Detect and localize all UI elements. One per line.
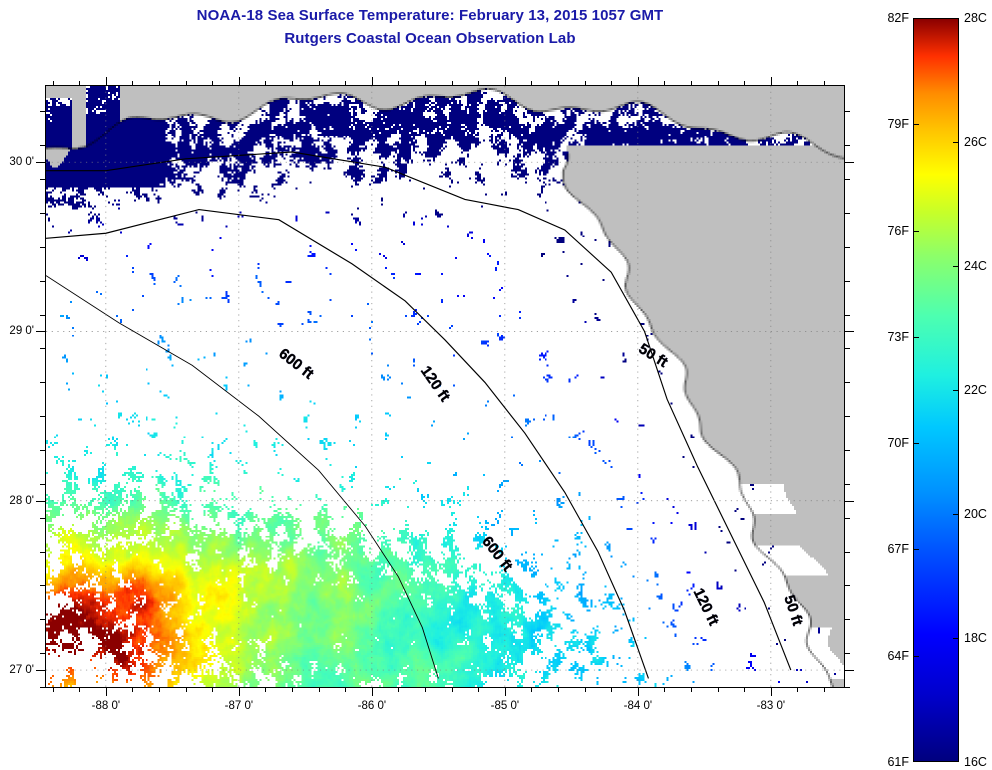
y-minor-tick: [40, 111, 46, 112]
y-minor-tick-right: [844, 687, 850, 688]
y-minor-tick: [40, 281, 46, 282]
y-minor-tick: [40, 416, 46, 417]
y-minor-tick-right: [844, 111, 850, 112]
x-minor-tick: [212, 687, 213, 692]
y-minor-tick-right: [844, 281, 850, 282]
y-minor-tick-right: [844, 619, 850, 620]
colorbar-fahrenheit-label: 73F: [871, 330, 909, 344]
y-minor-tick-right: [844, 484, 850, 485]
x-minor-tick: [345, 687, 346, 692]
y-major-tick: [36, 501, 46, 502]
colorbar-fahrenheit-tick: [913, 443, 919, 444]
colorbar-celsius-tick: [953, 266, 959, 267]
x-minor-tick: [159, 687, 160, 692]
y-minor-tick: [40, 213, 46, 214]
contour-label-120ft: 120 ft: [417, 363, 453, 405]
x-minor-tick-top: [531, 81, 532, 86]
contour-label-50ft: 50 ft: [636, 340, 671, 371]
map-overlay: 600 ft120 ft50 ft600 ft120 ft50 ft: [46, 86, 844, 687]
y-major-tick: [36, 670, 46, 671]
x-major-tick-top: [505, 77, 506, 86]
y-minor-tick: [40, 484, 46, 485]
map-plot-area[interactable]: 600 ft120 ft50 ft600 ft120 ft50 ft: [45, 85, 845, 688]
y-major-tick-right: [844, 331, 854, 332]
colorbar-fahrenheit-label: 70F: [871, 436, 909, 450]
x-minor-tick: [691, 687, 692, 692]
lat-tick-label: 30 0': [2, 156, 34, 168]
page-subtitle: Rutgers Coastal Ocean Observation Lab: [0, 28, 860, 50]
title-block: NOAA-18 Sea Surface Temperature: Februar…: [0, 0, 860, 50]
colorbar-celsius-label: 20C: [964, 507, 987, 521]
lon-tick-label: -87 0': [225, 700, 253, 712]
x-minor-tick-top: [611, 81, 612, 86]
y-minor-tick: [40, 687, 46, 688]
y-minor-tick-right: [844, 585, 850, 586]
lon-tick-label: -88 0': [92, 700, 120, 712]
x-major-tick-top: [771, 77, 772, 86]
y-minor-tick: [40, 552, 46, 553]
x-minor-tick: [744, 687, 745, 692]
y-minor-tick-right: [844, 518, 850, 519]
y-minor-tick-right: [844, 315, 850, 316]
x-major-tick-top: [106, 77, 107, 86]
x-minor-tick: [398, 687, 399, 692]
y-major-tick: [36, 331, 46, 332]
y-major-tick: [36, 162, 46, 163]
y-minor-tick-right: [844, 179, 850, 180]
x-minor-tick-top: [452, 81, 453, 86]
colorbar-celsius-tick: [953, 638, 959, 639]
y-minor-tick: [40, 619, 46, 620]
colorbar-fahrenheit-tick: [913, 656, 919, 657]
y-minor-tick-right: [844, 552, 850, 553]
y-minor-tick-right: [844, 382, 850, 383]
x-minor-tick: [824, 687, 825, 692]
x-minor-tick: [132, 687, 133, 692]
colorbar-fahrenheit-tick: [913, 549, 919, 550]
y-minor-tick: [40, 382, 46, 383]
y-minor-tick-right: [844, 348, 850, 349]
x-minor-tick-top: [718, 81, 719, 86]
x-minor-tick-top: [425, 81, 426, 86]
depth-contour-600ft: [46, 276, 438, 679]
x-minor-tick-top: [345, 81, 346, 86]
x-minor-tick-top: [212, 81, 213, 86]
x-minor-tick: [478, 687, 479, 692]
x-minor-tick: [611, 687, 612, 692]
y-minor-tick: [40, 450, 46, 451]
colorbar-celsius-label: 22C: [964, 383, 987, 397]
lon-tick-label: -83 0': [757, 700, 785, 712]
colorbar-fahrenheit-tick: [913, 231, 919, 232]
x-minor-tick-top: [186, 81, 187, 86]
x-minor-tick: [186, 687, 187, 692]
x-minor-tick: [558, 687, 559, 692]
x-minor-tick-top: [265, 81, 266, 86]
contour-label-120ft: 120 ft: [690, 586, 722, 629]
contour-label-50ft: 50 ft: [780, 593, 806, 628]
y-minor-tick-right: [844, 145, 850, 146]
colorbar-fahrenheit-label: 76F: [871, 224, 909, 238]
lat-tick-label: 29 0': [2, 325, 34, 337]
y-minor-tick-right: [844, 653, 850, 654]
x-major-tick: [638, 687, 639, 696]
x-minor-tick-top: [797, 81, 798, 86]
colorbar-celsius-label: 16C: [964, 755, 987, 769]
page-title: NOAA-18 Sea Surface Temperature: Februar…: [0, 5, 860, 27]
x-minor-tick: [425, 687, 426, 692]
colorbar-fahrenheit-label: 82F: [871, 11, 909, 25]
x-minor-tick: [718, 687, 719, 692]
x-minor-tick-top: [691, 81, 692, 86]
x-minor-tick-top: [398, 81, 399, 86]
depth-contour-lines: [46, 152, 791, 678]
lon-tick-label: -85 0': [491, 700, 519, 712]
y-minor-tick-right: [844, 213, 850, 214]
y-minor-tick: [40, 145, 46, 146]
x-minor-tick: [531, 687, 532, 692]
x-major-tick-top: [638, 77, 639, 86]
y-major-tick-right: [844, 162, 854, 163]
x-minor-tick-top: [292, 81, 293, 86]
x-minor-tick: [265, 687, 266, 692]
x-minor-tick-top: [744, 81, 745, 86]
lon-tick-label: -84 0': [624, 700, 652, 712]
colorbar-celsius-label: 26C: [964, 135, 987, 149]
colorbar-fahrenheit-label: 64F: [871, 649, 909, 663]
x-minor-tick: [292, 687, 293, 692]
lon-tick-label: -86 0': [358, 700, 386, 712]
depth-contour-50ft: [46, 152, 791, 670]
y-minor-tick-right: [844, 450, 850, 451]
y-minor-tick-right: [844, 416, 850, 417]
x-minor-tick-top: [664, 81, 665, 86]
colorbar-celsius-tick: [953, 514, 959, 515]
x-major-tick: [771, 687, 772, 696]
y-major-tick-right: [844, 670, 854, 671]
colorbar-fahrenheit-label: 67F: [871, 542, 909, 556]
contour-label-600ft: 600 ft: [275, 345, 316, 383]
x-minor-tick: [585, 687, 586, 692]
x-minor-tick: [319, 687, 320, 692]
y-minor-tick-right: [844, 247, 850, 248]
lat-tick-label: 27 0': [2, 664, 34, 676]
x-major-tick: [106, 687, 107, 696]
x-minor-tick: [79, 687, 80, 692]
y-minor-tick: [40, 653, 46, 654]
y-minor-tick: [40, 247, 46, 248]
x-minor-tick-top: [824, 81, 825, 86]
x-major-tick-top: [239, 77, 240, 86]
colorbar-fahrenheit-tick: [913, 337, 919, 338]
x-minor-tick: [53, 687, 54, 692]
y-minor-tick: [40, 518, 46, 519]
x-major-tick: [239, 687, 240, 696]
depth-contour-labels: 600 ft120 ft50 ft600 ft120 ft50 ft: [275, 340, 806, 628]
x-minor-tick-top: [159, 81, 160, 86]
colorbar-celsius-tick: [953, 142, 959, 143]
x-minor-tick-top: [79, 81, 80, 86]
x-major-tick: [505, 687, 506, 696]
x-minor-tick-top: [53, 81, 54, 86]
y-minor-tick: [40, 348, 46, 349]
colorbar-fahrenheit-tick: [913, 124, 919, 125]
x-minor-tick: [452, 687, 453, 692]
depth-contour-120ft: [46, 210, 648, 679]
colorbar-fahrenheit-label: 79F: [871, 117, 909, 131]
colorbar-celsius-label: 24C: [964, 259, 987, 273]
contour-label-600ft: 600 ft: [478, 533, 516, 574]
colorbar-fahrenheit-label: 61F: [871, 755, 909, 769]
x-minor-tick-top: [319, 81, 320, 86]
colorbar-celsius-tick: [953, 390, 959, 391]
y-major-tick-right: [844, 501, 854, 502]
x-minor-tick: [797, 687, 798, 692]
x-minor-tick-top: [132, 81, 133, 86]
x-minor-tick: [664, 687, 665, 692]
y-minor-tick: [40, 315, 46, 316]
x-major-tick: [372, 687, 373, 696]
y-minor-tick: [40, 585, 46, 586]
lat-tick-label: 28 0': [2, 495, 34, 507]
x-minor-tick-top: [585, 81, 586, 86]
x-minor-tick-top: [558, 81, 559, 86]
y-minor-tick: [40, 179, 46, 180]
colorbar-celsius-label: 28C: [964, 11, 987, 25]
colorbar-celsius-label: 18C: [964, 631, 987, 645]
x-minor-tick-top: [478, 81, 479, 86]
x-major-tick-top: [372, 77, 373, 86]
